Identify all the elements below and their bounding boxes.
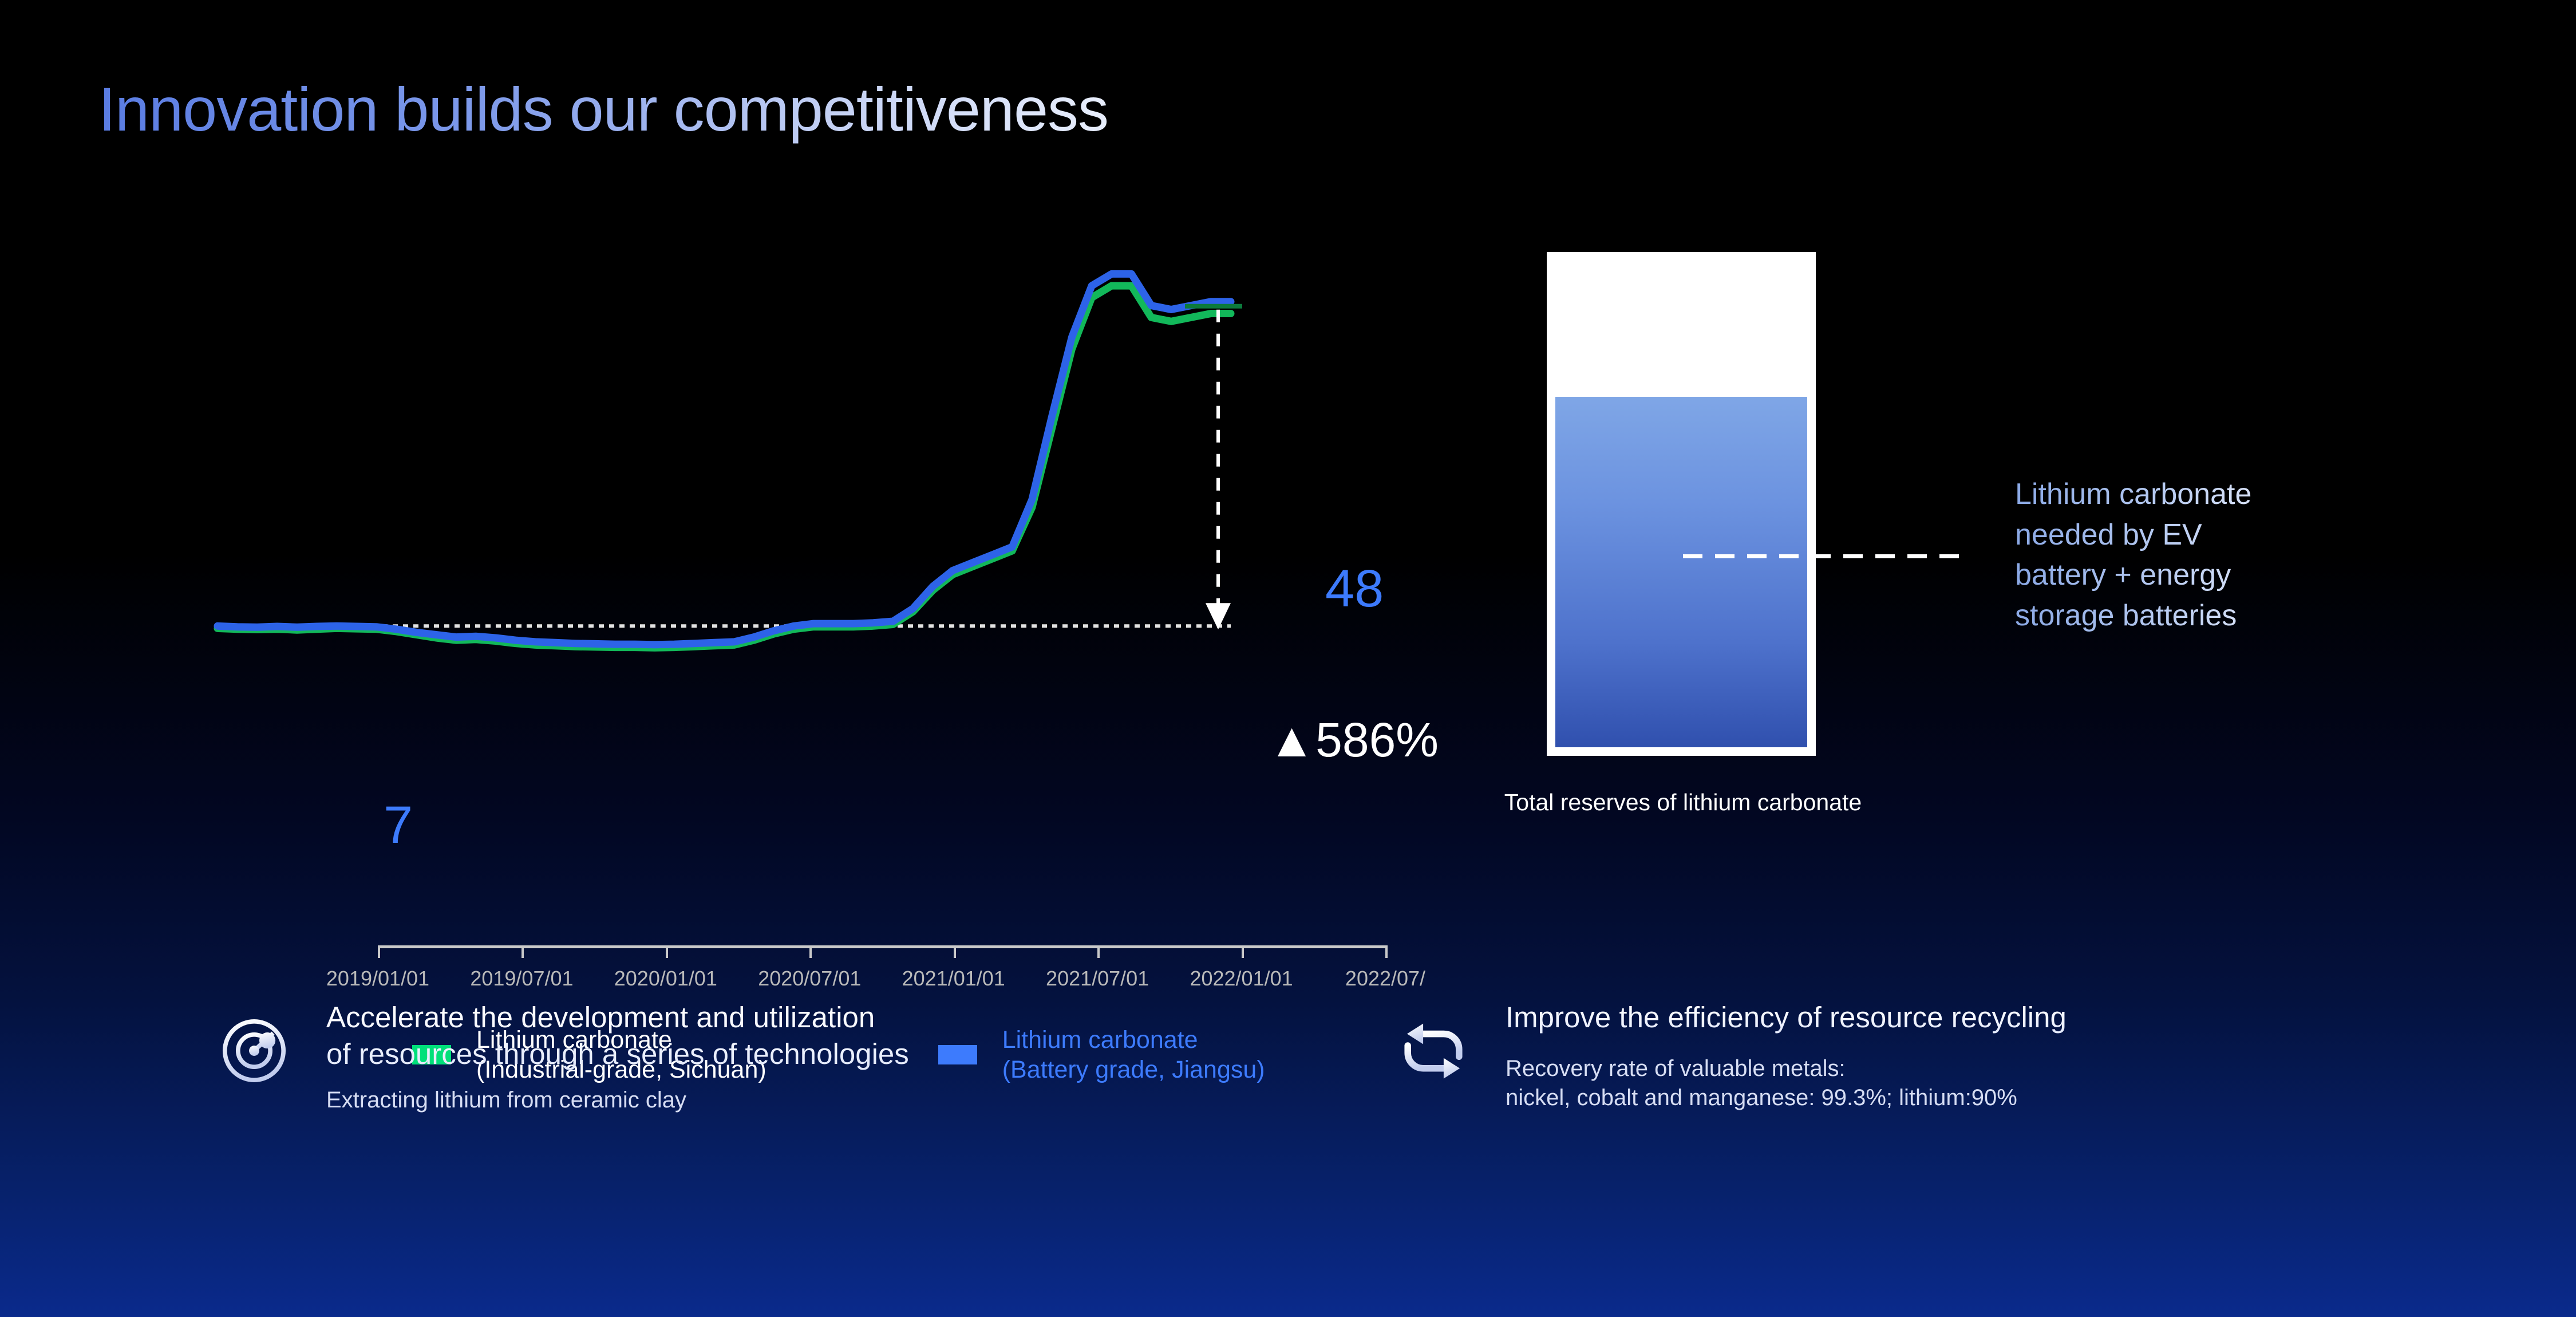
feature-text-block: Accelerate the development and utilizati… [326, 999, 909, 1115]
x-tick-6 [1242, 945, 1244, 958]
reservoir-fill-level [1555, 397, 1807, 747]
x-tick-label: 2021/01/01 [902, 967, 1005, 991]
reservoir-connector-dashed-line [1683, 554, 1969, 558]
price-line-chart: 7 48 ▲586% 2019/01/012019/07/012020/01/0… [160, 246, 1282, 882]
x-tick-label: 2022/07/ [1345, 967, 1425, 991]
x-tick-5 [1097, 945, 1100, 958]
reservoir-annotation-text: Lithium carbonate needed by EV battery +… [2015, 474, 2416, 636]
feature-text-block: Improve the efficiency of resource recyc… [1506, 999, 2067, 1113]
chart-lines-svg [218, 246, 1248, 681]
x-tick-0 [378, 945, 380, 958]
x-tick-label: 2019/01/01 [326, 967, 429, 991]
x-tick-label: 2021/07/01 [1046, 967, 1149, 991]
chart-start-value: 7 [384, 799, 413, 851]
feature-heading: Improve the efficiency of resource recyc… [1506, 999, 2067, 1036]
x-tick-2 [666, 945, 668, 958]
chart-end-value: 48 [1325, 562, 1384, 615]
x-tick-7 [1385, 945, 1388, 958]
x-tick-1 [521, 945, 524, 958]
radar-target-icon [218, 1014, 291, 1087]
feature-heading: Accelerate the development and utilizati… [326, 999, 909, 1073]
chart-plot-area [218, 246, 1248, 681]
delta-percent-badge: ▲586% [1268, 716, 1439, 764]
feature-subtext: Recovery rate of valuable metals: nickel… [1506, 1054, 2067, 1113]
x-tick-4 [954, 945, 956, 958]
feature-subtext: Extracting lithium from ceramic clay [326, 1086, 909, 1115]
series-line-battery [218, 274, 1231, 644]
feature-block-resource-recycling: Improve the efficiency of resource recyc… [1397, 999, 2399, 1113]
page-title: Innovation builds our competitiveness [98, 73, 1108, 145]
x-axis-tick-labels: 2019/01/012019/07/012020/01/012020/07/01… [160, 967, 1443, 995]
x-tick-label: 2019/07/01 [470, 967, 573, 991]
reservoir-caption: Total reserves of lithium carbonate [1454, 789, 1912, 816]
x-tick-label: 2022/01/01 [1190, 967, 1293, 991]
x-axis-line [378, 945, 1385, 948]
x-tick-3 [809, 945, 812, 958]
reservoir-container [1547, 252, 1816, 756]
feature-block-resource-development: Accelerate the development and utilizati… [218, 999, 1191, 1115]
reservoir-graphic [1547, 252, 1816, 756]
x-tick-label: 2020/07/01 [758, 967, 861, 991]
x-tick-label: 2020/01/01 [614, 967, 717, 991]
series-line-industrial [218, 286, 1231, 648]
recycle-loop-icon [1397, 1014, 1470, 1087]
